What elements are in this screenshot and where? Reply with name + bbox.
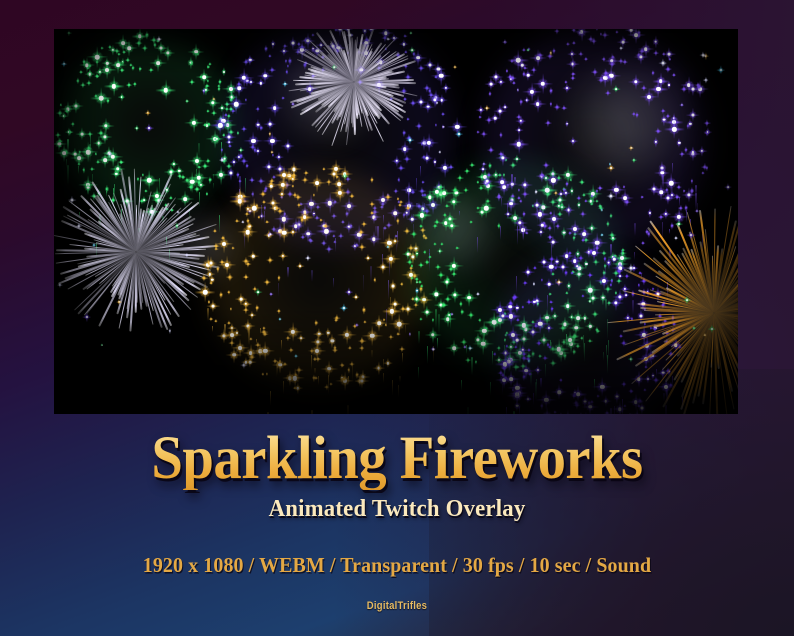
- ember-trail: [610, 244, 611, 258]
- ember-trail: [348, 376, 349, 384]
- ember-trail: [540, 378, 541, 388]
- ember-trail: [669, 229, 670, 234]
- ember-trail: [281, 340, 282, 350]
- ember-trail: [96, 243, 97, 258]
- ember-trail: [279, 360, 280, 368]
- ember-trail: [651, 361, 652, 367]
- ember-trail: [264, 211, 265, 224]
- green-gold-sparkle-burst-right-center: [404, 154, 624, 374]
- ember-trail: [697, 203, 698, 217]
- ember-trail: [121, 209, 122, 226]
- ember-trail: [399, 376, 400, 382]
- ember-trail: [621, 250, 622, 260]
- ember-trail: [550, 342, 551, 353]
- ember-trail: [276, 363, 277, 377]
- ember-trail: [408, 188, 409, 204]
- ember-trail: [162, 216, 163, 223]
- ember-trail: [92, 174, 93, 192]
- ember-trail: [138, 228, 139, 233]
- ember-trail: [516, 276, 517, 293]
- ember-trail: [669, 250, 670, 260]
- smoke-puff: [666, 268, 738, 350]
- ember-trail: [213, 174, 214, 180]
- ember-trail: [504, 366, 505, 386]
- ember-trail: [663, 393, 664, 402]
- ember-trail: [607, 319, 608, 340]
- orange-spike-burst-far-right: [602, 200, 738, 414]
- ember-trail: [248, 326, 249, 344]
- ember-trail: [450, 313, 451, 329]
- ember-trail: [519, 406, 520, 414]
- ember-trail: [547, 295, 548, 312]
- green-sparkle-burst-upper-left: [57, 32, 241, 216]
- ember-trail: [67, 139, 68, 152]
- ember-trail: [318, 376, 319, 386]
- ember-trail: [537, 209, 538, 225]
- ember-trail: [67, 165, 68, 185]
- ember-trail: [375, 226, 376, 238]
- smoke-puff: [271, 45, 387, 144]
- ember-trail: [504, 345, 505, 363]
- etsy-listing-card: Sparkling Fireworks Animated Twitch Over…: [0, 0, 794, 636]
- smoke-puff: [402, 185, 506, 273]
- ember-trail: [370, 266, 371, 282]
- white-spike-burst-upper-center: [286, 29, 422, 149]
- ember-trail: [383, 359, 384, 369]
- ember-trail: [702, 234, 703, 252]
- blue-violet-dot-burst-lower-right: [492, 249, 682, 414]
- ember-trail: [333, 278, 334, 288]
- ember-trail: [383, 227, 384, 242]
- ember-trail: [256, 339, 257, 344]
- ember-trail: [502, 384, 503, 395]
- ember-trail: [500, 226, 501, 240]
- ember-trail: [219, 215, 220, 233]
- ember-trail: [545, 364, 546, 378]
- ember-trail: [66, 159, 67, 168]
- ember-trail: [389, 258, 390, 277]
- ember-trail: [690, 219, 691, 231]
- ember-trail: [335, 238, 336, 252]
- ember-trail: [113, 188, 114, 209]
- ember-trail: [347, 405, 348, 414]
- ember-trail: [533, 393, 534, 406]
- ember-trail: [159, 178, 160, 193]
- product-specs-line: 1920 x 1080 / WEBM / Transparent / 30 fp…: [20, 553, 774, 578]
- ember-trail: [682, 397, 683, 410]
- ember-trail: [641, 273, 642, 281]
- ember-trail: [377, 226, 378, 245]
- ember-trail: [416, 203, 417, 209]
- ember-trail: [382, 254, 383, 269]
- ember-trail: [530, 372, 531, 386]
- ember-trail: [383, 373, 384, 382]
- ember-trail: [686, 210, 687, 223]
- ember-trail: [695, 185, 696, 196]
- ember-trail: [311, 270, 312, 283]
- ember-trail: [213, 183, 214, 189]
- ember-trail: [501, 198, 502, 207]
- ember-trail: [672, 163, 673, 174]
- ember-trail: [245, 178, 246, 195]
- ember-trail: [328, 375, 329, 395]
- ember-trail: [506, 407, 507, 414]
- violet-sparkle-burst-upper-right: [476, 29, 712, 257]
- ember-trail: [507, 203, 508, 215]
- ember-trail: [303, 212, 304, 229]
- ember-trail: [270, 391, 271, 406]
- ember-trail: [413, 214, 414, 224]
- ember-trail: [244, 233, 245, 249]
- ember-trail: [606, 345, 607, 359]
- ember-trail: [584, 343, 585, 362]
- ember-trail: [392, 380, 393, 395]
- ember-trail: [221, 142, 222, 157]
- ember-trail: [388, 280, 389, 300]
- ember-trail: [166, 237, 167, 247]
- ember-trail: [196, 169, 197, 181]
- gold-green-sparkle-burst-center: [204, 164, 434, 394]
- product-title: Sparkling Fireworks: [28, 428, 766, 490]
- ember-trail: [608, 340, 609, 360]
- ember-trail: [398, 385, 399, 398]
- ember-trail: [311, 355, 312, 371]
- ember-trail: [287, 267, 288, 278]
- ember-trail: [554, 226, 555, 234]
- ember-trail: [106, 191, 107, 197]
- ember-trail: [429, 249, 430, 263]
- ember-trail: [90, 134, 91, 151]
- ember-trail: [99, 214, 100, 229]
- ember-trail: [622, 399, 623, 413]
- ember-trail: [386, 309, 387, 328]
- ember-trail: [239, 189, 240, 208]
- ember-trail: [679, 197, 680, 207]
- ember-trail: [239, 176, 240, 195]
- ember-trail: [424, 203, 425, 219]
- ember-trail: [89, 144, 90, 164]
- ember-trail: [408, 203, 409, 218]
- ember-trail: [511, 174, 512, 190]
- ember-trail: [199, 192, 200, 207]
- ember-trail: [605, 266, 606, 282]
- ember-trail: [634, 223, 635, 236]
- preview-vignette: [54, 29, 738, 414]
- ember-trail: [605, 299, 606, 311]
- ember-trail: [514, 177, 515, 185]
- ember-trail: [634, 252, 635, 259]
- ember-trail: [662, 175, 663, 189]
- ember-trail: [614, 406, 615, 414]
- ember-trail: [467, 407, 468, 414]
- ember-trail: [555, 279, 556, 285]
- ember-trail: [405, 325, 406, 334]
- product-subtitle: Animated Twitch Overlay: [20, 496, 774, 523]
- ember-trail: [198, 143, 199, 157]
- ember-trail: [314, 368, 315, 374]
- ember-trail: [461, 380, 462, 391]
- ember-trail: [632, 300, 633, 315]
- ember-trail: [583, 335, 584, 354]
- ember-trail: [672, 376, 673, 388]
- ember-trail: [418, 367, 419, 380]
- ember-trail: [594, 379, 595, 390]
- ember-trail: [471, 357, 472, 376]
- ember-trail: [662, 222, 663, 241]
- ember-trail: [665, 405, 666, 414]
- ember-trail: [437, 338, 438, 349]
- shop-brand-watermark: DigitalTrifles: [56, 600, 739, 612]
- ember-trail: [224, 333, 225, 340]
- ember-trail: [551, 244, 552, 263]
- ember-trail: [550, 340, 551, 351]
- smoke-puff: [552, 63, 696, 185]
- ember-trail: [371, 350, 372, 358]
- ember-trail: [535, 382, 536, 401]
- ember-trail: [466, 345, 467, 354]
- ember-trail: [695, 193, 696, 211]
- ember-trail: [429, 253, 430, 272]
- ember-trail: [212, 326, 213, 332]
- ember-trail: [396, 244, 397, 253]
- ember-trail: [79, 212, 80, 218]
- ember-trail: [114, 184, 115, 203]
- ember-trail: [433, 346, 434, 363]
- ember-trail: [427, 346, 428, 364]
- ember-trail: [390, 297, 391, 313]
- ember-trail: [413, 224, 414, 238]
- ember-trail: [283, 381, 284, 394]
- ember-trail: [485, 340, 486, 347]
- smoke-puff: [164, 210, 244, 278]
- ember-trail: [435, 309, 436, 328]
- ember-trail: [492, 351, 493, 365]
- ember-trail: [397, 231, 398, 249]
- ember-trail: [667, 282, 668, 299]
- ember-trail: [490, 382, 491, 396]
- ember-trail: [78, 166, 79, 174]
- white-spike-burst-lower-left: [54, 165, 222, 337]
- ember-trail: [260, 328, 261, 333]
- blue-violet-sparkle-burst-upper-center: [219, 29, 459, 254]
- ember-trail: [438, 314, 439, 334]
- ember-trail: [277, 361, 278, 374]
- ember-trail: [295, 232, 296, 237]
- ember-trail: [477, 237, 478, 253]
- ember-trail: [352, 364, 353, 383]
- ember-trail: [189, 209, 190, 221]
- ember-trail: [607, 355, 608, 375]
- ember-trail: [420, 166, 421, 177]
- ember-trail: [207, 308, 208, 321]
- ember-trail: [418, 331, 419, 344]
- ember-trail: [261, 205, 262, 222]
- ember-trail: [517, 226, 518, 245]
- ember-trail: [672, 187, 673, 195]
- ember-trail: [363, 275, 364, 293]
- fireworks-preview-image[interactable]: [54, 29, 738, 414]
- ember-trail: [383, 215, 384, 224]
- ember-trail: [566, 334, 567, 349]
- ember-trail: [402, 353, 403, 363]
- ember-trail: [622, 407, 623, 414]
- ember-trail: [656, 369, 657, 376]
- ember-trail: [603, 352, 604, 361]
- ember-trail: [224, 324, 225, 337]
- ember-trail: [666, 389, 667, 406]
- ember-trail: [416, 178, 417, 191]
- ember-trail: [459, 211, 460, 216]
- ember-trail: [374, 215, 375, 221]
- ember-trail: [169, 249, 170, 263]
- ember-trail: [278, 283, 279, 297]
- ember-trail: [536, 379, 537, 384]
- ember-trail: [523, 228, 524, 241]
- listing-text-block: Sparkling Fireworks Animated Twitch Over…: [0, 414, 794, 636]
